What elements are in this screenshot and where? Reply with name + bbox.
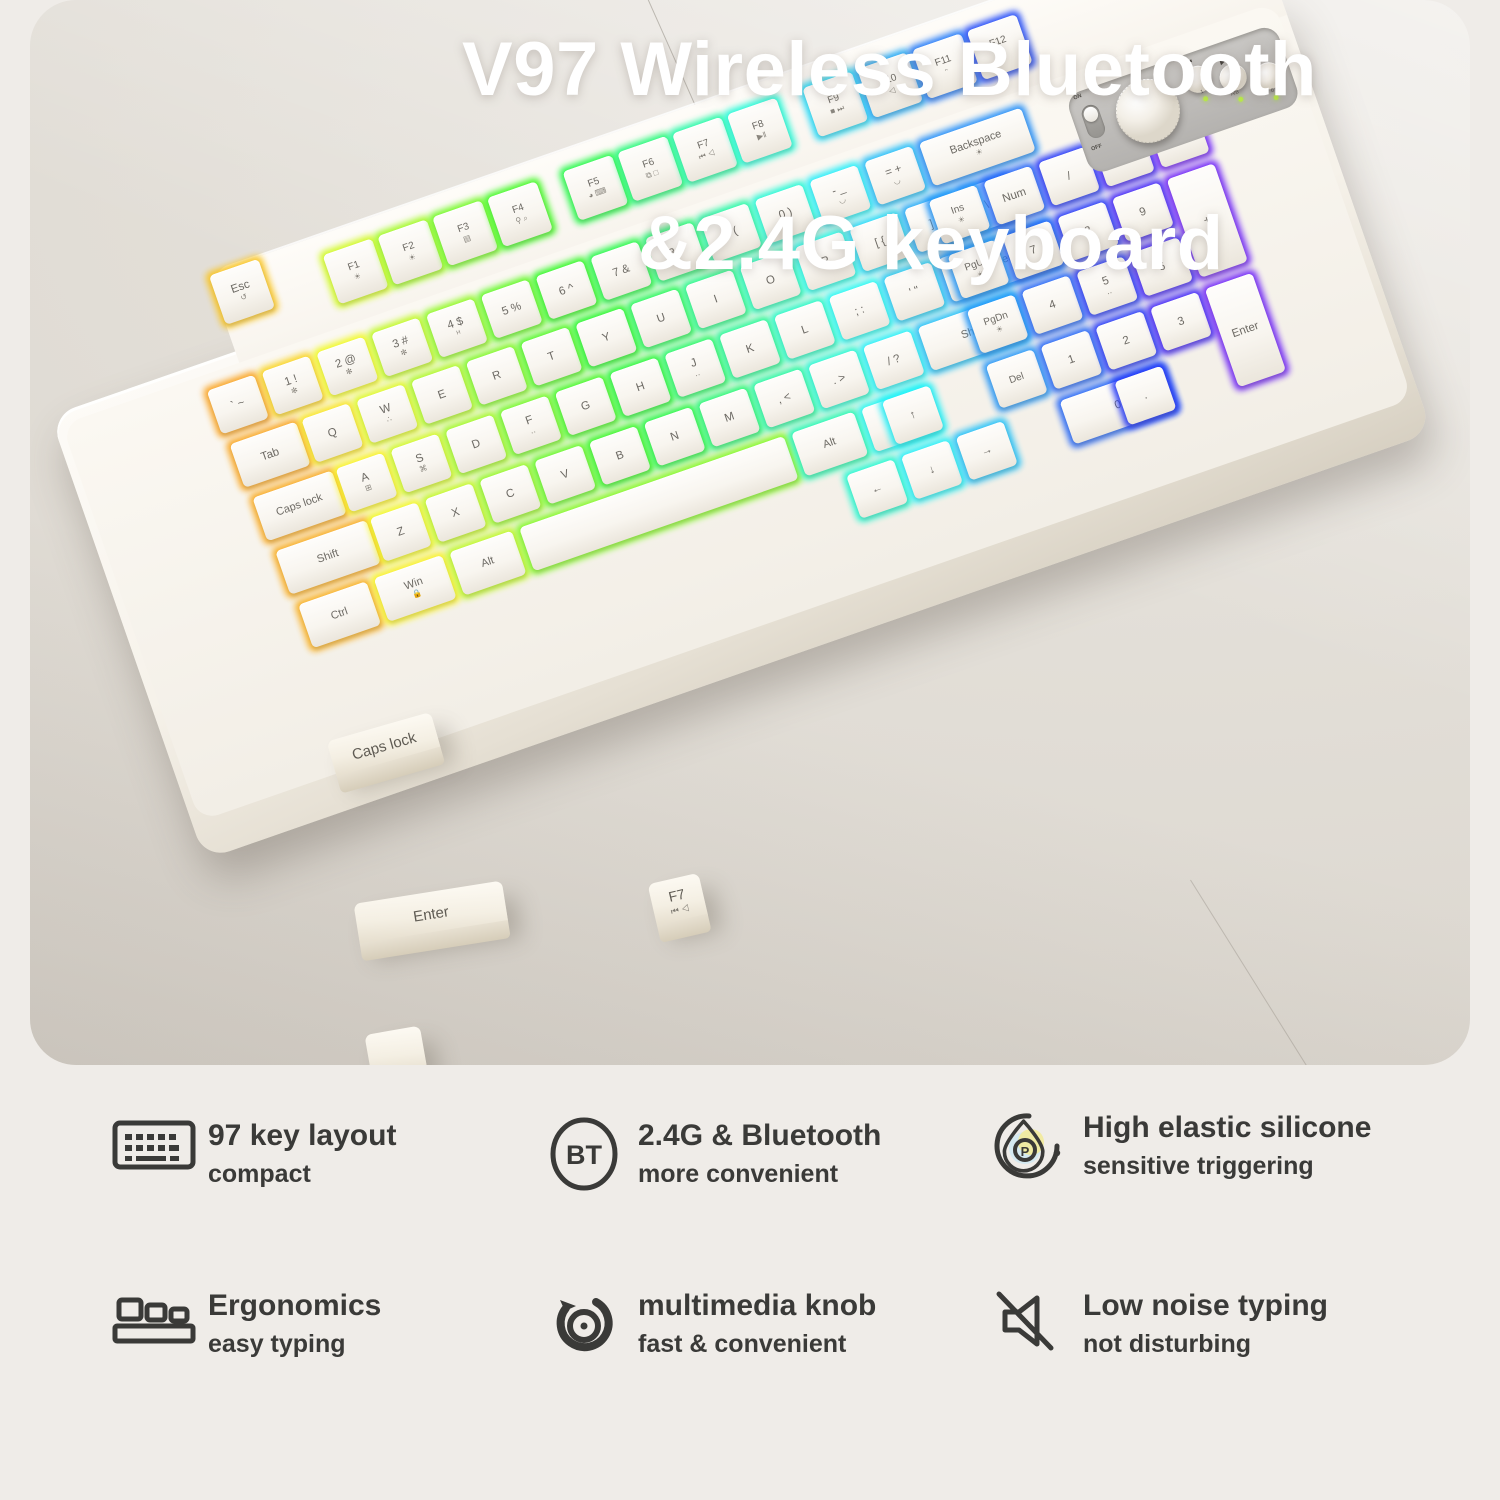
feature-grid: 97 key layout compact BT 2.4G & Bluetoot…	[0, 1078, 1500, 1500]
feature-subtitle: sensitive triggering	[1083, 1151, 1371, 1182]
loose-keycap-label: Enter	[412, 903, 450, 925]
loose-keycap-label: F7	[667, 885, 687, 904]
feature-item-bluetooth: BT 2.4G & Bluetooth more convenient	[530, 1116, 881, 1192]
feature-title: 97 key layout	[208, 1118, 396, 1153]
feature-title: High elastic silicone	[1083, 1110, 1371, 1145]
feature-title: 2.4G & Bluetooth	[638, 1118, 881, 1153]
feature-subtitle: compact	[208, 1159, 396, 1190]
page-title-line-2: &2.4G keyboard	[638, 200, 1224, 287]
feature-subtitle: not disturbing	[1083, 1329, 1328, 1360]
feature-subtitle: more convenient	[638, 1159, 881, 1190]
page-title-line-1: V97 Wireless Bluetooth	[462, 26, 1317, 113]
feature-item-low-noise: Low noise typing not disturbing	[975, 1286, 1328, 1361]
keyboard-icon	[100, 1116, 208, 1174]
feature-item-97-key-layout: 97 key layout compact	[100, 1116, 396, 1191]
svg-text:BT: BT	[566, 1140, 602, 1170]
mute-icon	[975, 1286, 1083, 1356]
loose-keycap-sublabel: ⏮ ◁	[670, 902, 691, 917]
feature-item-knob: multimedia knob fast & convenient	[530, 1286, 876, 1362]
svg-text:P: P	[1021, 1144, 1030, 1159]
knob-icon	[530, 1286, 638, 1362]
product-hero-photo: Esc↺F1☀F2☀F3▤F4⚲ ⌕F5◕ ⌨F6⧉ □F7⏮ ◁F8▶‖F9■…	[30, 0, 1470, 1065]
feature-title: multimedia knob	[638, 1288, 876, 1323]
loose-keycap-f7: F7 ⏮ ◁	[647, 873, 708, 930]
feature-subtitle: easy typing	[208, 1329, 381, 1360]
feature-item-silicone: P High elastic silicone sensitive trigge…	[975, 1108, 1371, 1184]
feature-title: Ergonomics	[208, 1288, 381, 1323]
feature-subtitle: fast & convenient	[638, 1329, 876, 1360]
feature-title: Low noise typing	[1083, 1288, 1328, 1323]
bluetooth-icon: BT	[530, 1116, 638, 1192]
silicone-icon: P	[975, 1108, 1083, 1184]
feature-item-ergonomics: Ergonomics easy typing	[100, 1286, 381, 1361]
ergonomics-icon	[100, 1286, 208, 1348]
switch-off-label: OFF	[1091, 143, 1103, 152]
